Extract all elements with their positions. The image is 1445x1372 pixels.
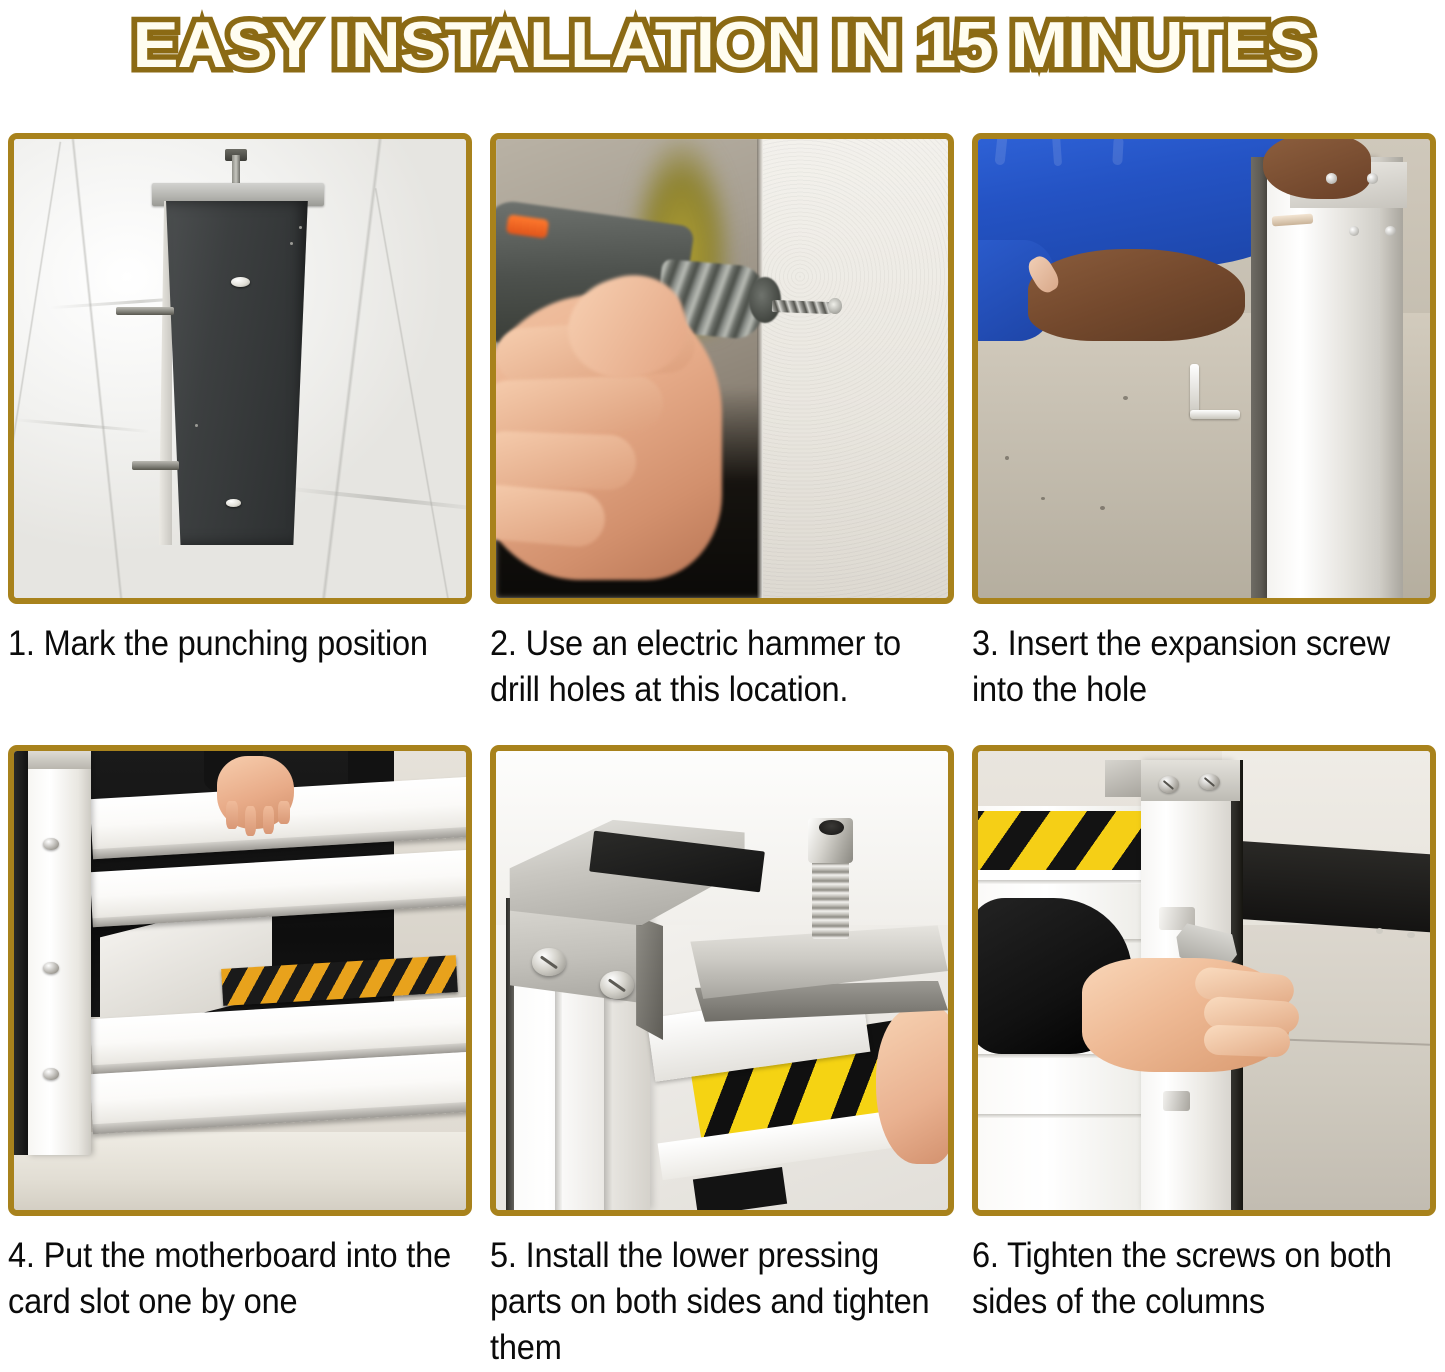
finger <box>496 430 637 491</box>
barrier-seam <box>978 880 1150 884</box>
step-card-3: 3. Insert the expansion screw into the h… <box>972 133 1436 713</box>
steps-row-1: 1. Mark the punching position <box>8 133 1437 713</box>
step-caption-4: 4. Put the motherboard into the card slo… <box>8 1233 473 1325</box>
steps-row-2: 4. Put the motherboard into the card slo… <box>8 745 1437 1372</box>
step-photo-frame-3 <box>972 133 1436 604</box>
cloth-fold <box>14 142 62 596</box>
screw <box>1367 173 1378 183</box>
floor-debris <box>1123 396 1128 400</box>
drill-hole <box>231 277 250 287</box>
step-photo-frame-2 <box>490 133 954 604</box>
column-screw <box>43 1068 58 1080</box>
textured-wall <box>763 139 948 598</box>
shirt-fold <box>1051 139 1062 166</box>
wall-corner-edge <box>757 139 763 598</box>
finger <box>226 801 238 829</box>
step-card-1: 1. Mark the punching position <box>8 133 472 713</box>
step-photo-1-mounting-plate <box>14 139 466 598</box>
phillips-screw <box>1159 776 1179 793</box>
drill-bit <box>772 300 831 314</box>
shirt-fold <box>994 139 1007 166</box>
phillips-screw <box>532 948 566 976</box>
finger <box>496 375 664 436</box>
step-photo-frame-5 <box>490 745 954 1216</box>
barrier-seam <box>978 1114 1150 1118</box>
column-screw <box>1163 1091 1190 1112</box>
bracket-lip <box>636 916 663 1040</box>
finger <box>1204 1025 1291 1058</box>
step-photo-4-insert-boards <box>14 751 466 1210</box>
step-caption-3: 3. Insert the expansion screw into the h… <box>972 621 1437 713</box>
step-caption-6: 6. Tighten the screws on both sides of t… <box>972 1233 1437 1325</box>
shirt-fold <box>1112 139 1123 164</box>
side-stud <box>116 307 175 316</box>
upper-hand <box>1263 139 1371 199</box>
step-caption-1: 1. Mark the punching position <box>8 621 473 667</box>
column-screw <box>43 962 58 974</box>
cloth-fold <box>374 188 453 598</box>
step-caption-2: 2. Use an electric hammer to drill holes… <box>490 621 955 713</box>
cloth-fold <box>316 139 385 598</box>
thumb-bolt-thread <box>812 857 848 940</box>
page-header: EASY INSTALLATION IN 15 MINUTES <box>0 0 1445 88</box>
step-photo-frame-1 <box>8 133 472 604</box>
step-card-4: 4. Put the motherboard into the card slo… <box>8 745 472 1372</box>
step-card-5: 5. Install the lower pressing parts on b… <box>490 745 954 1372</box>
floor-debris <box>1005 456 1009 460</box>
column-cap <box>28 751 91 769</box>
drill-bit-tip <box>828 298 842 315</box>
baseboard-fixing <box>1407 932 1414 938</box>
column-cap <box>1141 760 1240 801</box>
column-right-face <box>1380 157 1403 598</box>
forearm <box>1028 249 1245 341</box>
step-photo-3-expansion-screw <box>978 139 1430 598</box>
step-photo-5-pressing-parts <box>496 751 948 1210</box>
surface-speck <box>195 424 198 427</box>
step-card-2: 2. Use an electric hammer to drill holes… <box>490 133 954 713</box>
baseboard-seal <box>1222 840 1430 933</box>
surface-speck <box>299 226 302 229</box>
step-photo-6-tighten-screws <box>978 751 1430 1210</box>
column-screw <box>43 838 58 850</box>
cloth-fold <box>14 418 149 433</box>
thumb-bolt-socket <box>819 820 844 835</box>
step-photo-frame-4 <box>8 745 472 1216</box>
page-title: EASY INSTALLATION IN 15 MINUTES <box>132 12 1313 77</box>
side-channel-column <box>28 751 91 1155</box>
step-photo-2-hammer-drill <box>496 139 948 598</box>
cloth-fold <box>286 486 466 511</box>
step-caption-5: 5. Install the lower pressing parts on b… <box>490 1233 955 1372</box>
screw <box>1326 173 1337 183</box>
baseboard-fixing <box>1376 928 1383 934</box>
finger <box>278 801 290 824</box>
finger <box>245 806 257 836</box>
finger <box>263 806 275 834</box>
allen-key <box>1190 364 1253 428</box>
cloth-fold <box>69 139 126 598</box>
mounting-plate-body <box>163 201 308 545</box>
phillips-screw <box>600 971 634 999</box>
drill-hole <box>226 499 240 507</box>
installation-steps-grid: 1. Mark the punching position <box>8 133 1437 1345</box>
screw <box>1385 226 1396 236</box>
step-card-6: 6. Tighten the screws on both sides of t… <box>972 745 1436 1372</box>
hazard-stripe <box>978 811 1141 871</box>
step-photo-frame-6 <box>972 745 1436 1216</box>
side-stud <box>132 461 179 470</box>
